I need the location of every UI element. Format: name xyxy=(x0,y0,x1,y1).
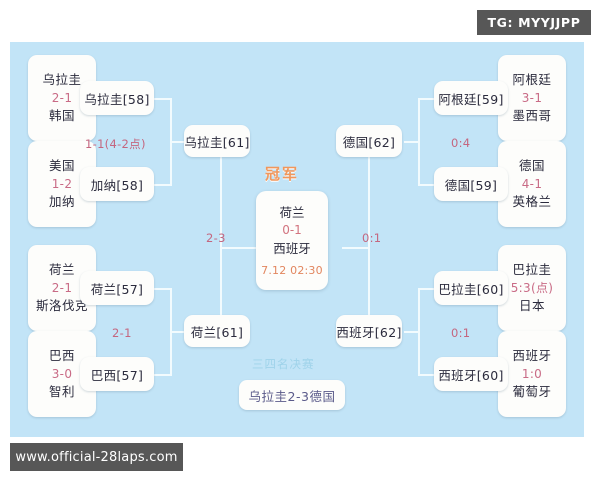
champion-label: 冠军 xyxy=(265,163,299,184)
third-place-result[interactable]: 乌拉圭2-3德国 xyxy=(239,380,345,410)
round-score-right-semi: 0:1 xyxy=(362,231,381,245)
team-away: 加纳 xyxy=(49,193,75,211)
team-home: 阿根廷 xyxy=(512,71,551,89)
watermark-bottom-left: www.official-28laps.com xyxy=(10,443,183,471)
final-kickoff: 7.12 02:30 xyxy=(261,264,323,277)
match-score: 4-1 xyxy=(522,175,543,193)
match-card-right-2[interactable]: 德国 4-1 英格兰 xyxy=(498,141,566,227)
match-score: 2-1 xyxy=(52,89,73,107)
match-score: 3-0 xyxy=(52,365,73,383)
winner-pill-left-sf-2[interactable]: 荷兰[61] xyxy=(184,315,250,347)
connector xyxy=(220,247,256,249)
connector xyxy=(418,98,420,186)
connector xyxy=(220,157,222,191)
connector xyxy=(368,247,370,283)
connector xyxy=(170,141,184,143)
team-home: 德国 xyxy=(519,157,545,175)
team-away: 葡萄牙 xyxy=(512,383,551,401)
match-score: 3-1 xyxy=(522,89,543,107)
winner-pill-right-sf-2[interactable]: 西班牙[62] xyxy=(336,315,402,347)
team-away: 韩国 xyxy=(49,107,75,125)
round-score-right-1: 0:4 xyxy=(451,136,470,150)
winner-pill-right-qf-1[interactable]: 阿根廷[59] xyxy=(434,81,508,115)
match-card-right-1[interactable]: 阿根廷 3-1 墨西哥 xyxy=(498,55,566,141)
connector xyxy=(418,288,420,376)
match-score: 5:3(点) xyxy=(511,279,553,297)
connector xyxy=(220,282,222,316)
final-team-home: 荷兰 xyxy=(279,204,304,222)
winner-pill-right-qf-4[interactable]: 西班牙[60] xyxy=(434,357,508,391)
team-home: 乌拉圭 xyxy=(42,71,81,89)
winner-pill-right-sf-1[interactable]: 德国[62] xyxy=(336,125,402,157)
winner-pill-left-qf-2[interactable]: 加纳[58] xyxy=(80,167,154,201)
winner-pill-left-qf-4[interactable]: 巴西[57] xyxy=(80,357,154,391)
team-home: 荷兰 xyxy=(49,261,75,279)
match-score: 1:0 xyxy=(522,365,542,383)
winner-pill-right-qf-3[interactable]: 巴拉圭[60] xyxy=(434,271,508,305)
third-place-title: 三四名决赛 xyxy=(252,356,315,372)
winner-pill-left-qf-1[interactable]: 乌拉圭[58] xyxy=(80,81,154,115)
watermark-top-right: TG: MYYJJPP xyxy=(477,10,591,35)
final-team-away: 西班牙 xyxy=(273,240,311,258)
connector xyxy=(220,247,222,283)
connector xyxy=(342,247,370,249)
team-away: 智利 xyxy=(49,383,75,401)
connector xyxy=(170,331,184,333)
winner-pill-left-sf-1[interactable]: 乌拉圭[61] xyxy=(184,125,250,157)
final-score: 0-1 xyxy=(282,222,302,239)
team-away: 墨西哥 xyxy=(512,107,551,125)
team-away: 日本 xyxy=(519,297,545,315)
final-match-card[interactable]: 荷兰 0-1 西班牙 7.12 02:30 xyxy=(256,191,328,290)
round-score-left-semi: 2-3 xyxy=(206,231,226,245)
match-card-right-3[interactable]: 巴拉圭 5:3(点) 日本 xyxy=(498,245,566,331)
team-away: 英格兰 xyxy=(512,193,551,211)
connector xyxy=(404,331,418,333)
round-score-right-2: 0:1 xyxy=(451,326,470,340)
match-card-right-4[interactable]: 西班牙 1:0 葡萄牙 xyxy=(498,331,566,417)
winner-pill-right-qf-2[interactable]: 德国[59] xyxy=(434,167,508,201)
round-score-left-2: 2-1 xyxy=(112,326,132,340)
team-home: 美国 xyxy=(49,157,75,175)
connector xyxy=(368,282,370,316)
winner-pill-left-qf-3[interactable]: 荷兰[57] xyxy=(80,271,154,305)
team-home: 西班牙 xyxy=(512,347,551,365)
connector xyxy=(368,157,370,191)
bracket-root: 乌拉圭 2-1 韩国 美国 1-2 加纳 荷兰 2-1 斯洛伐克 巴西 3-0 … xyxy=(0,0,600,480)
match-score: 2-1 xyxy=(52,279,73,297)
team-home: 巴拉圭 xyxy=(512,261,551,279)
round-score-left-1: 1-1(4-2点) xyxy=(85,136,146,152)
match-score: 1-2 xyxy=(52,175,73,193)
team-home: 巴西 xyxy=(49,347,75,365)
connector xyxy=(404,141,418,143)
